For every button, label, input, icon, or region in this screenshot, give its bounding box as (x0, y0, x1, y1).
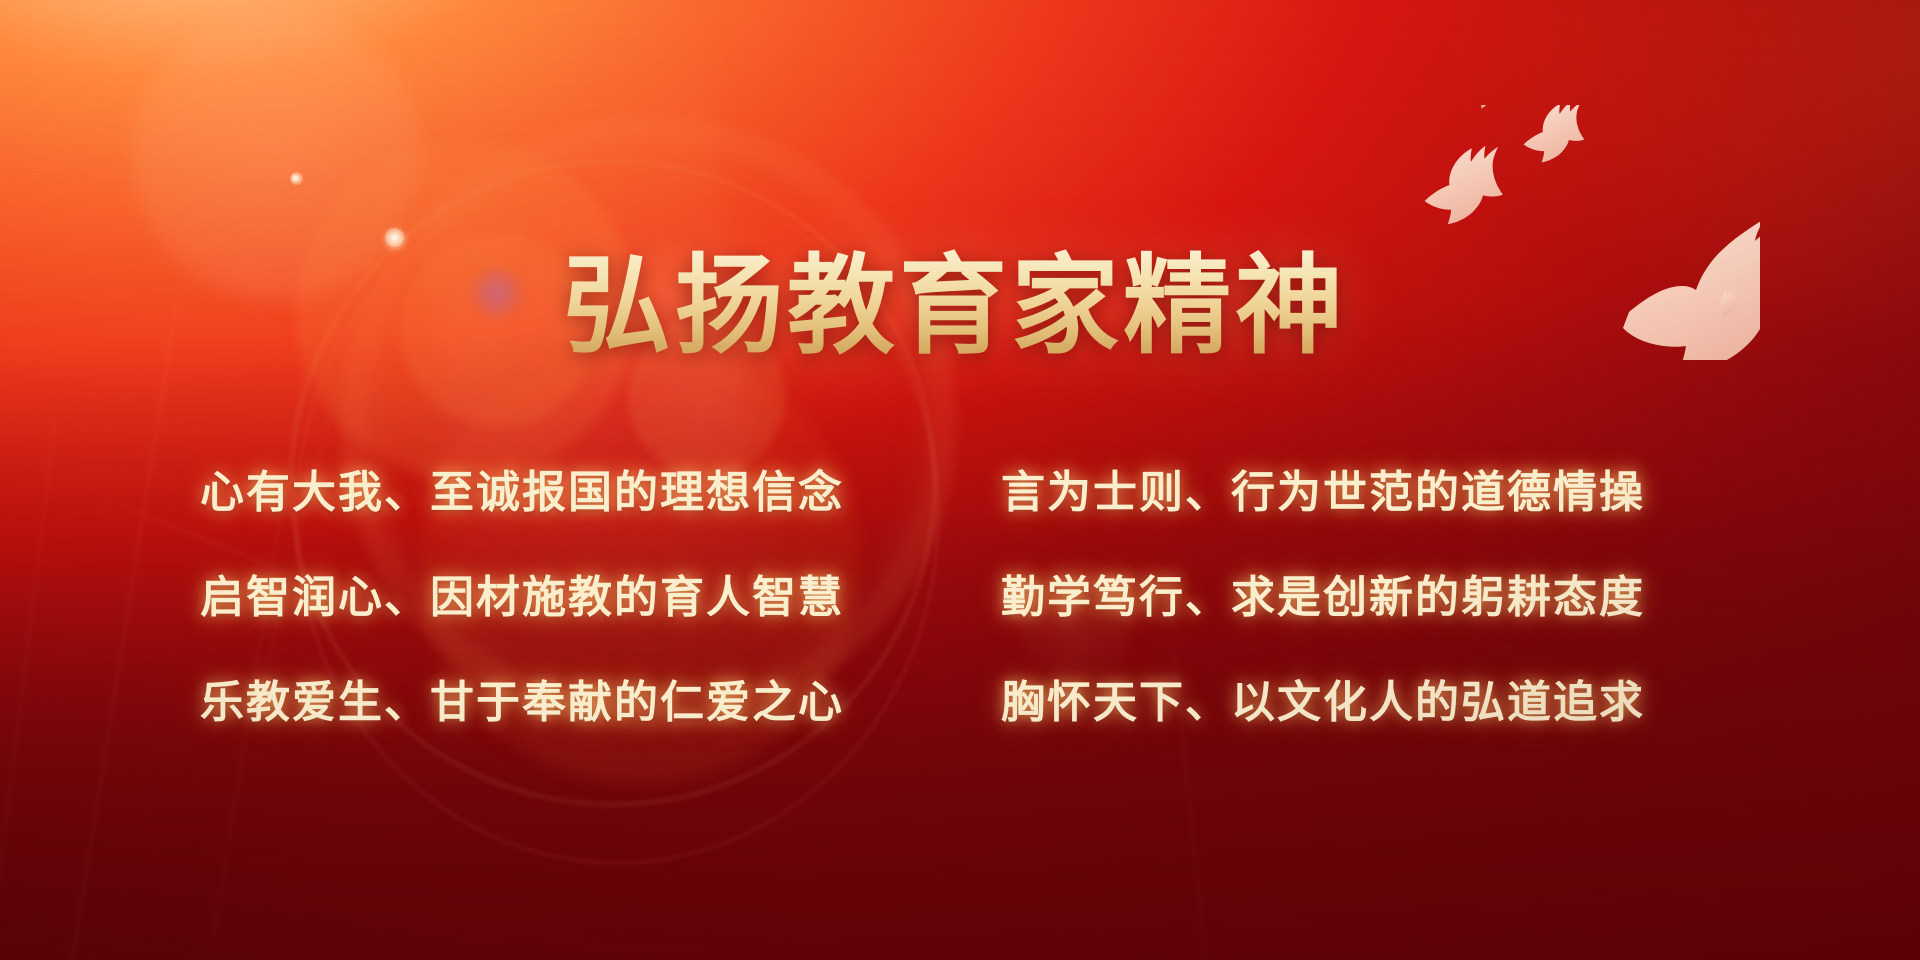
slogan-line: 启智润心、因材施教的育人智慧 (186, 576, 844, 620)
slogan-line: 乐教爱生、甘于奉献的仁爱之心 (186, 681, 844, 725)
page-title: 弘扬教育家精神 (0, 246, 1920, 367)
slogan-line: 勤学笃行、求是创新的躬耕态度 (1001, 576, 1645, 620)
slogan-line: 心有大我、至诚报国的理想信念 (186, 471, 844, 515)
banner-canvas: 弘扬教育家精神 心有大我、至诚报国的理想信念 言为士则、行为世范的道德情操 启智… (0, 0, 1920, 960)
slogan-line: 言为士则、行为世范的道德情操 (1001, 471, 1645, 515)
slogan-line: 胸怀天下、以文化人的弘道追求 (1001, 681, 1645, 725)
slogan-grid: 心有大我、至诚报国的理想信念 言为士则、行为世范的道德情操 启智润心、因材施教的… (186, 440, 1746, 755)
